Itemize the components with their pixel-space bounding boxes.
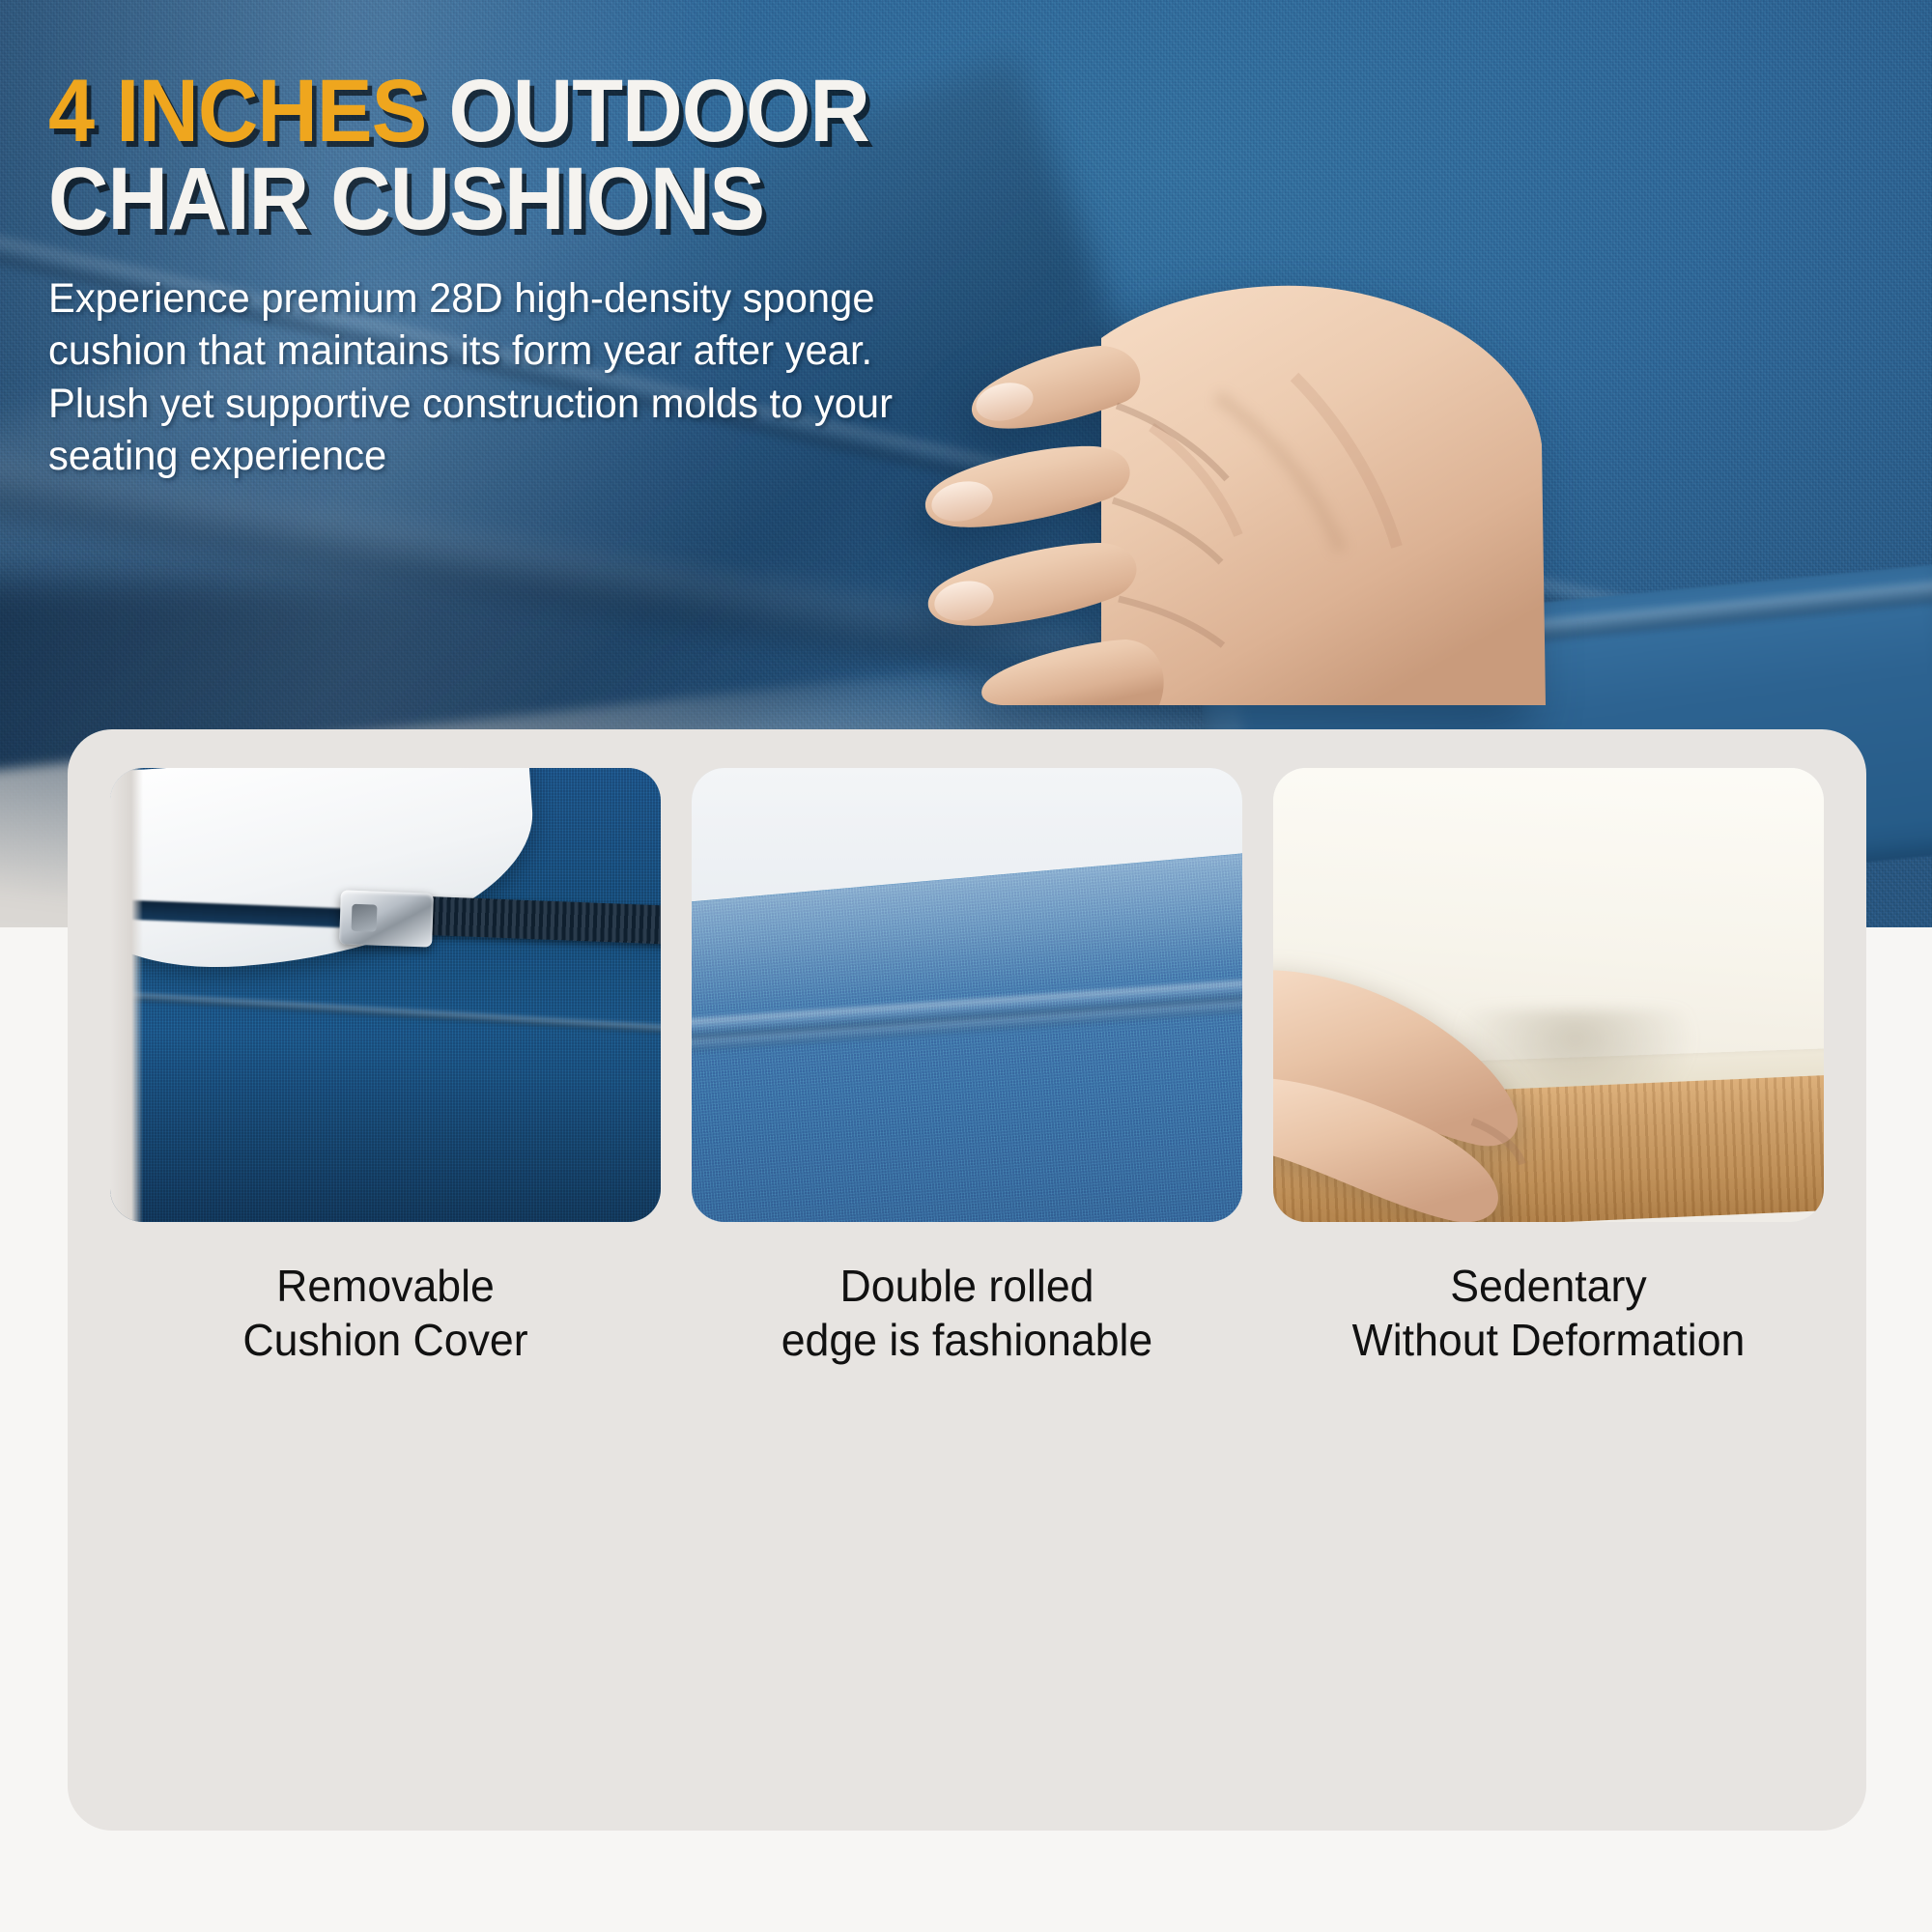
zipper-bottom-shading [110, 1029, 661, 1222]
caption-2-line-2: edge is fashionable [700, 1313, 1235, 1367]
hero-description: Experience premium 28D high-density spon… [48, 272, 948, 482]
caption-3-line-1: Sedentary [1282, 1259, 1816, 1313]
headline-line2: CHAIR CUSHIONS [48, 156, 1093, 243]
feature-image-foam-press [1273, 768, 1824, 1222]
hero-text-block: 4 INCHES OUTDOOR CHAIR CUSHIONS Experien… [48, 68, 1159, 482]
caption-1-line-2: Cushion Cover [119, 1313, 653, 1367]
feature-card: Removable Cushion Cover Double rolled ed… [68, 729, 1866, 1831]
page-title: 4 INCHES OUTDOOR CHAIR CUSHIONS [48, 68, 1093, 243]
caption-double-rolled-edge: Double rolled edge is fashionable [700, 1259, 1235, 1367]
zipper-slider-icon [339, 890, 434, 947]
feature-caption-row: Removable Cushion Cover Double rolled ed… [110, 1259, 1824, 1367]
headline-line1-rest: OUTDOOR [426, 62, 868, 160]
headline-accent: 4 INCHES [48, 62, 426, 160]
caption-3-line-2: Without Deformation [1282, 1313, 1816, 1367]
product-feature-banner: 4 INCHES OUTDOOR CHAIR CUSHIONS Experien… [0, 0, 1932, 1932]
caption-sedentary-without-deformation: Sedentary Without Deformation [1282, 1259, 1816, 1367]
caption-1-line-1: Removable [119, 1259, 653, 1313]
feature-image-zipper [110, 768, 661, 1222]
feature-thumbnail-row [110, 768, 1824, 1222]
caption-removable-cushion-cover: Removable Cushion Cover [119, 1259, 653, 1367]
feature-image-rolled-edge [692, 768, 1242, 1222]
zipper-left-background-strip [110, 768, 143, 1222]
hand-pressing-foam-image [1273, 932, 1650, 1222]
caption-2-line-1: Double rolled [700, 1259, 1235, 1313]
